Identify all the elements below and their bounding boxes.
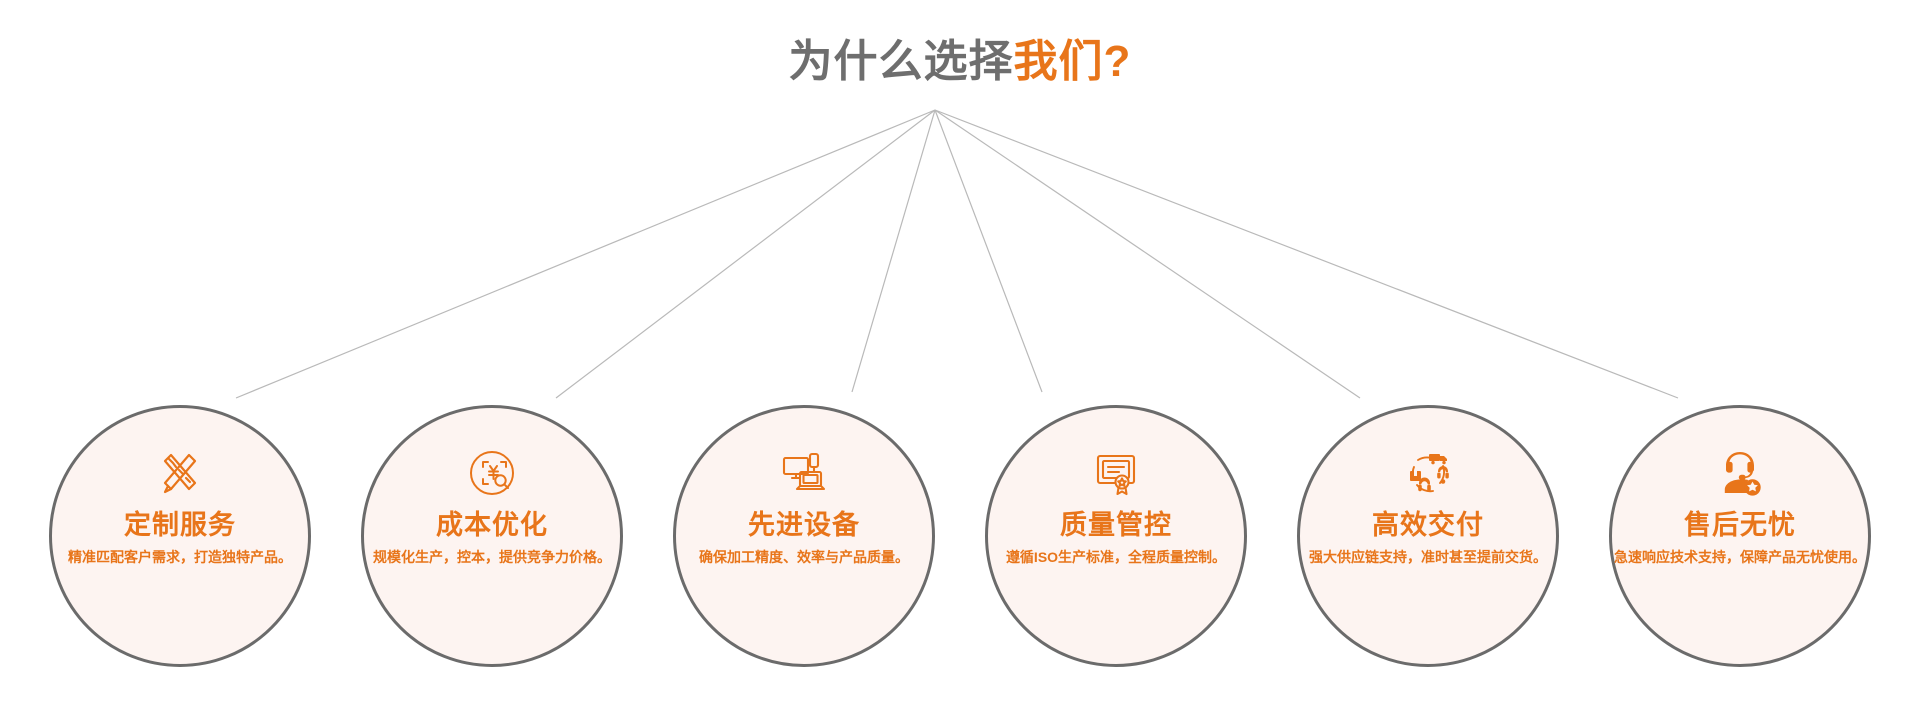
infographic-stage: 为什么选择我们? 定制服务 精准匹配客户需求，打造独特产品。 [0,0,1920,719]
feature-card-title: 质量管控 [1060,508,1172,542]
feature-card-title: 高效交付 [1372,508,1484,542]
devices-icon [777,446,831,500]
price-search-icon [465,446,519,500]
connector-line-1 [236,110,935,398]
feature-card-title: 成本优化 [436,508,548,542]
connector-line-6 [935,110,1678,398]
feature-card-desc: 精准匹配客户需求，打造独特产品。 [68,547,292,567]
feature-card-custom-service[interactable]: 定制服务 精准匹配客户需求，打造独特产品。 [49,405,311,667]
feature-card-title: 定制服务 [124,508,236,542]
feature-card-quality-control[interactable]: 质量管控 遵循ISO生产标准，全程质量控制。 [985,405,1247,667]
page-title-highlight: 我们? [1014,37,1132,86]
page-title: 为什么选择我们? [0,34,1920,90]
support-agent-icon [1713,446,1767,500]
certificate-icon [1089,446,1143,500]
ruler-pencil-icon [153,446,207,500]
feature-card-after-sales[interactable]: 售后无忧 急速响应技术支持，保障产品无忧使用。 [1609,405,1871,667]
feature-card-title: 售后无忧 [1684,508,1796,542]
connector-line-3 [852,110,935,392]
logistics-cycle-icon [1401,446,1455,500]
feature-card-desc: 规模化生产，控本，提供竞争力价格。 [373,547,611,567]
feature-card-desc: 强大供应链支持，准时甚至提前交货。 [1309,547,1547,567]
feature-card-title: 先进设备 [748,508,860,542]
page-title-prefix: 为什么选择 [789,37,1014,86]
feature-card-desc: 确保加工精度、效率与产品质量。 [699,547,909,567]
feature-card-advanced-equipment[interactable]: 先进设备 确保加工精度、效率与产品质量。 [673,405,935,667]
feature-card-fast-delivery[interactable]: 高效交付 强大供应链支持，准时甚至提前交货。 [1297,405,1559,667]
feature-card-desc: 遵循ISO生产标准，全程质量控制。 [1006,547,1226,567]
feature-card-desc: 急速响应技术支持，保障产品无忧使用。 [1614,547,1866,567]
feature-card-cost-optimization[interactable]: 成本优化 规模化生产，控本，提供竞争力价格。 [361,405,623,667]
connector-line-2 [556,110,935,398]
connector-line-4 [935,110,1042,392]
feature-circle-row: 定制服务 精准匹配客户需求，打造独特产品。 成本优化 规模化生产，控本，提供竞争… [0,405,1920,671]
connector-line-5 [935,110,1360,398]
